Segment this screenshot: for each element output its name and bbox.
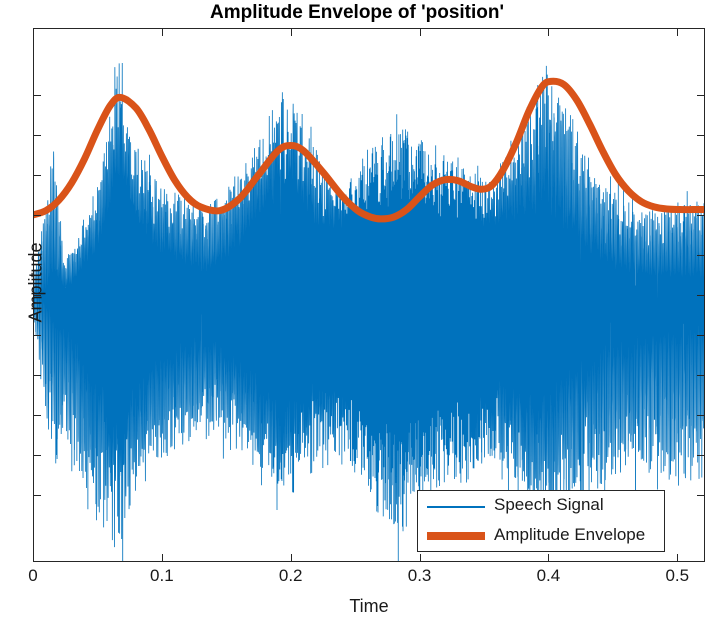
legend-item-amplitude-envelope[interactable]: Amplitude Envelope: [418, 521, 666, 552]
plot-area: [33, 28, 705, 562]
chart-title: Amplitude Envelope of 'position': [0, 2, 714, 24]
legend-label: Amplitude Envelope: [494, 525, 645, 545]
x-tick-label: 0.4: [518, 566, 578, 586]
x-tick-label: 0.2: [261, 566, 321, 586]
figure-canvas: Amplitude Envelope of 'position' Amplitu…: [0, 0, 714, 626]
speech-signal-series: [33, 63, 705, 562]
x-tick-label: 0.1: [132, 566, 192, 586]
legend-label: Speech Signal: [494, 495, 604, 515]
legend-item-speech-signal[interactable]: Speech Signal: [418, 491, 666, 522]
legend[interactable]: Speech Signal Amplitude Envelope: [417, 490, 665, 552]
x-axis-label: Time: [33, 596, 705, 617]
x-tick-label: 0.5: [647, 566, 707, 586]
y-axis-label: Amplitude: [26, 223, 47, 343]
x-tick-label: 0: [3, 566, 63, 586]
x-tick-label: 0.3: [390, 566, 450, 586]
speech-signal-path: [33, 63, 705, 562]
legend-swatch-bar-icon: [427, 532, 485, 540]
plot-svg: [33, 28, 705, 562]
legend-swatch-line-icon: [427, 506, 485, 508]
